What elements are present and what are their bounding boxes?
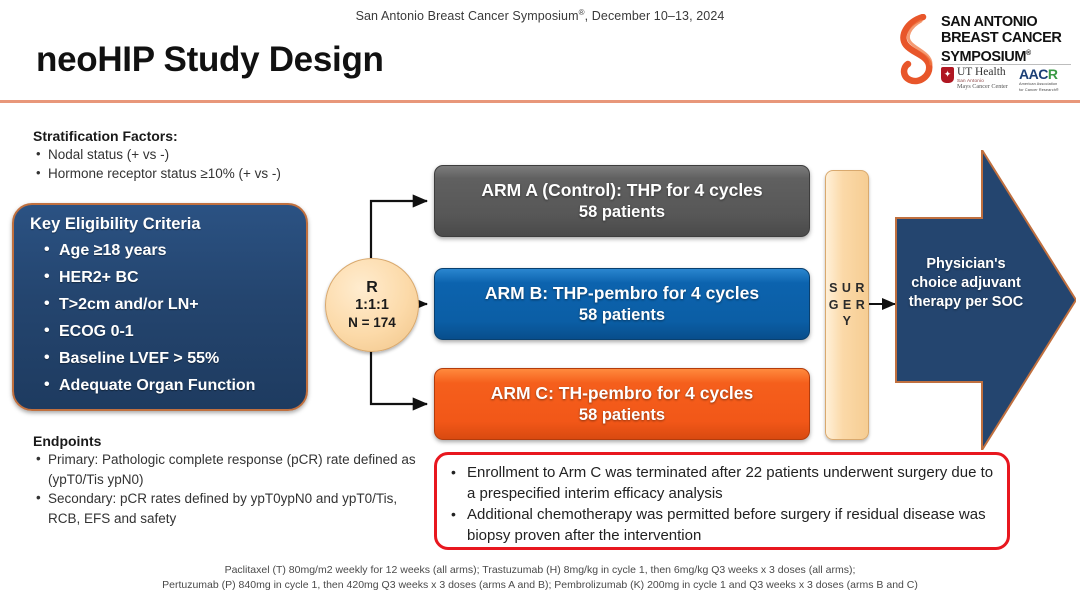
footnote-line-1: Paclitaxel (T) 80mg/m2 weekly for 12 wee…: [0, 563, 1080, 578]
eligibility-list: Age ≥18 years HER2+ BC T>2cm and/or LN+ …: [30, 237, 294, 399]
conference-name: San Antonio Breast Cancer Symposium: [356, 9, 579, 23]
list-item: Nodal status (+ vs -): [33, 145, 413, 164]
randomization-ratio: 1:1:1: [355, 296, 389, 314]
arm-a-title: ARM A (Control): THP for 4 cycles: [481, 179, 762, 202]
sabcs-logo-line2: BREAST CANCER: [941, 31, 1073, 47]
arm-c-title: ARM C: TH-pembro for 4 cycles: [491, 382, 754, 405]
physician-choice-label: Physician's choice adjuvant therapy per …: [906, 255, 1026, 312]
study-notes-box: Enrollment to Arm C was terminated after…: [434, 452, 1010, 550]
conference-dates: , December 10–13, 2024: [585, 9, 725, 23]
stratification-factors: Stratification Factors: Nodal status (+ …: [33, 128, 413, 183]
list-item: Adequate Organ Function: [44, 372, 294, 399]
ut-health-center: Mays Cancer Center: [957, 84, 1008, 90]
footnote-line-2: Pertuzumab (P) 840mg in cycle 1, then 42…: [0, 578, 1080, 593]
physician-choice-arrow: Physician's choice adjuvant therapy per …: [890, 150, 1076, 450]
endpoints-section: Endpoints Primary: Pathologic complete r…: [33, 433, 433, 528]
list-item: Age ≥18 years: [44, 237, 294, 264]
logo-registered-mark-icon: ®: [1026, 50, 1031, 57]
list-item: Additional chemotherapy was permitted be…: [447, 505, 995, 546]
list-item: Primary: Pathologic complete response (p…: [33, 450, 433, 489]
ut-shield-icon: [941, 67, 954, 83]
sabcs-ribbon-icon: [893, 14, 939, 86]
surgery-label: S U R G E R Y: [826, 280, 868, 330]
endpoints-list: Primary: Pathologic complete response (p…: [33, 450, 433, 528]
aacr-name-r: R: [1048, 66, 1058, 82]
logo-divider: [941, 64, 1071, 65]
stratification-list: Nodal status (+ vs -) Hormone receptor s…: [33, 145, 413, 183]
sabcs-logo-text: SAN ANTONIO BREAST CANCER SYMPOSIUM®: [941, 15, 1073, 65]
randomization-total: N = 174: [348, 314, 396, 331]
list-item: Baseline LVEF > 55%: [44, 345, 294, 372]
stratification-title: Stratification Factors:: [33, 128, 413, 144]
aacr-logo: AACR American Association for Cancer Res…: [1019, 67, 1059, 93]
arm-b-patients: 58 patients: [579, 305, 665, 326]
title-divider: [0, 100, 1080, 103]
arm-a-patients: 58 patients: [579, 202, 665, 223]
sabcs-logo-line3: SYMPOSIUM®: [941, 46, 1073, 65]
endpoints-title: Endpoints: [33, 433, 433, 449]
ut-health-logo: UT Health San Antonio Mays Cancer Center: [941, 67, 1008, 90]
arm-c-box: ARM C: TH-pembro for 4 cycles 58 patient…: [434, 368, 810, 440]
eligibility-title: Key Eligibility Criteria: [30, 215, 294, 234]
sabcs-logo: SAN ANTONIO BREAST CANCER SYMPOSIUM® UT …: [893, 12, 1073, 98]
partner-logos: UT Health San Antonio Mays Cancer Center…: [941, 67, 1073, 97]
eligibility-criteria-box: Key Eligibility Criteria Age ≥18 years H…: [12, 203, 308, 411]
randomization-node: R 1:1:1 N = 174: [325, 258, 419, 352]
arm-b-title: ARM B: THP-pembro for 4 cycles: [485, 282, 759, 305]
slide-canvas: San Antonio Breast Cancer Symposium®, De…: [0, 0, 1080, 602]
aacr-subtitle-2: for Cancer Research®: [1019, 88, 1059, 93]
randomization-label: R: [366, 279, 378, 296]
list-item: Secondary: pCR rates defined by ypT0ypN0…: [33, 489, 433, 528]
ut-health-name: UT Health: [957, 67, 1008, 79]
page-title: neoHIP Study Design: [36, 40, 384, 80]
list-item: Enrollment to Arm C was terminated after…: [447, 463, 995, 504]
list-item: Hormone receptor status ≥10% (+ vs -): [33, 164, 413, 183]
aacr-subtitle-1: American Association: [1019, 82, 1059, 87]
sabcs-logo-line1: SAN ANTONIO: [941, 15, 1073, 31]
study-notes-list: Enrollment to Arm C was terminated after…: [447, 463, 995, 546]
arm-b-box: ARM B: THP-pembro for 4 cycles 58 patien…: [434, 268, 810, 340]
surgery-bar: S U R G E R Y: [825, 170, 869, 440]
arm-a-box: ARM A (Control): THP for 4 cycles 58 pat…: [434, 165, 810, 237]
list-item: HER2+ BC: [44, 264, 294, 291]
aacr-name: AAC: [1019, 66, 1048, 82]
list-item: ECOG 0-1: [44, 318, 294, 345]
arm-c-patients: 58 patients: [579, 405, 665, 426]
list-item: T>2cm and/or LN+: [44, 291, 294, 318]
dosing-footnote: Paclitaxel (T) 80mg/m2 weekly for 12 wee…: [0, 563, 1080, 592]
